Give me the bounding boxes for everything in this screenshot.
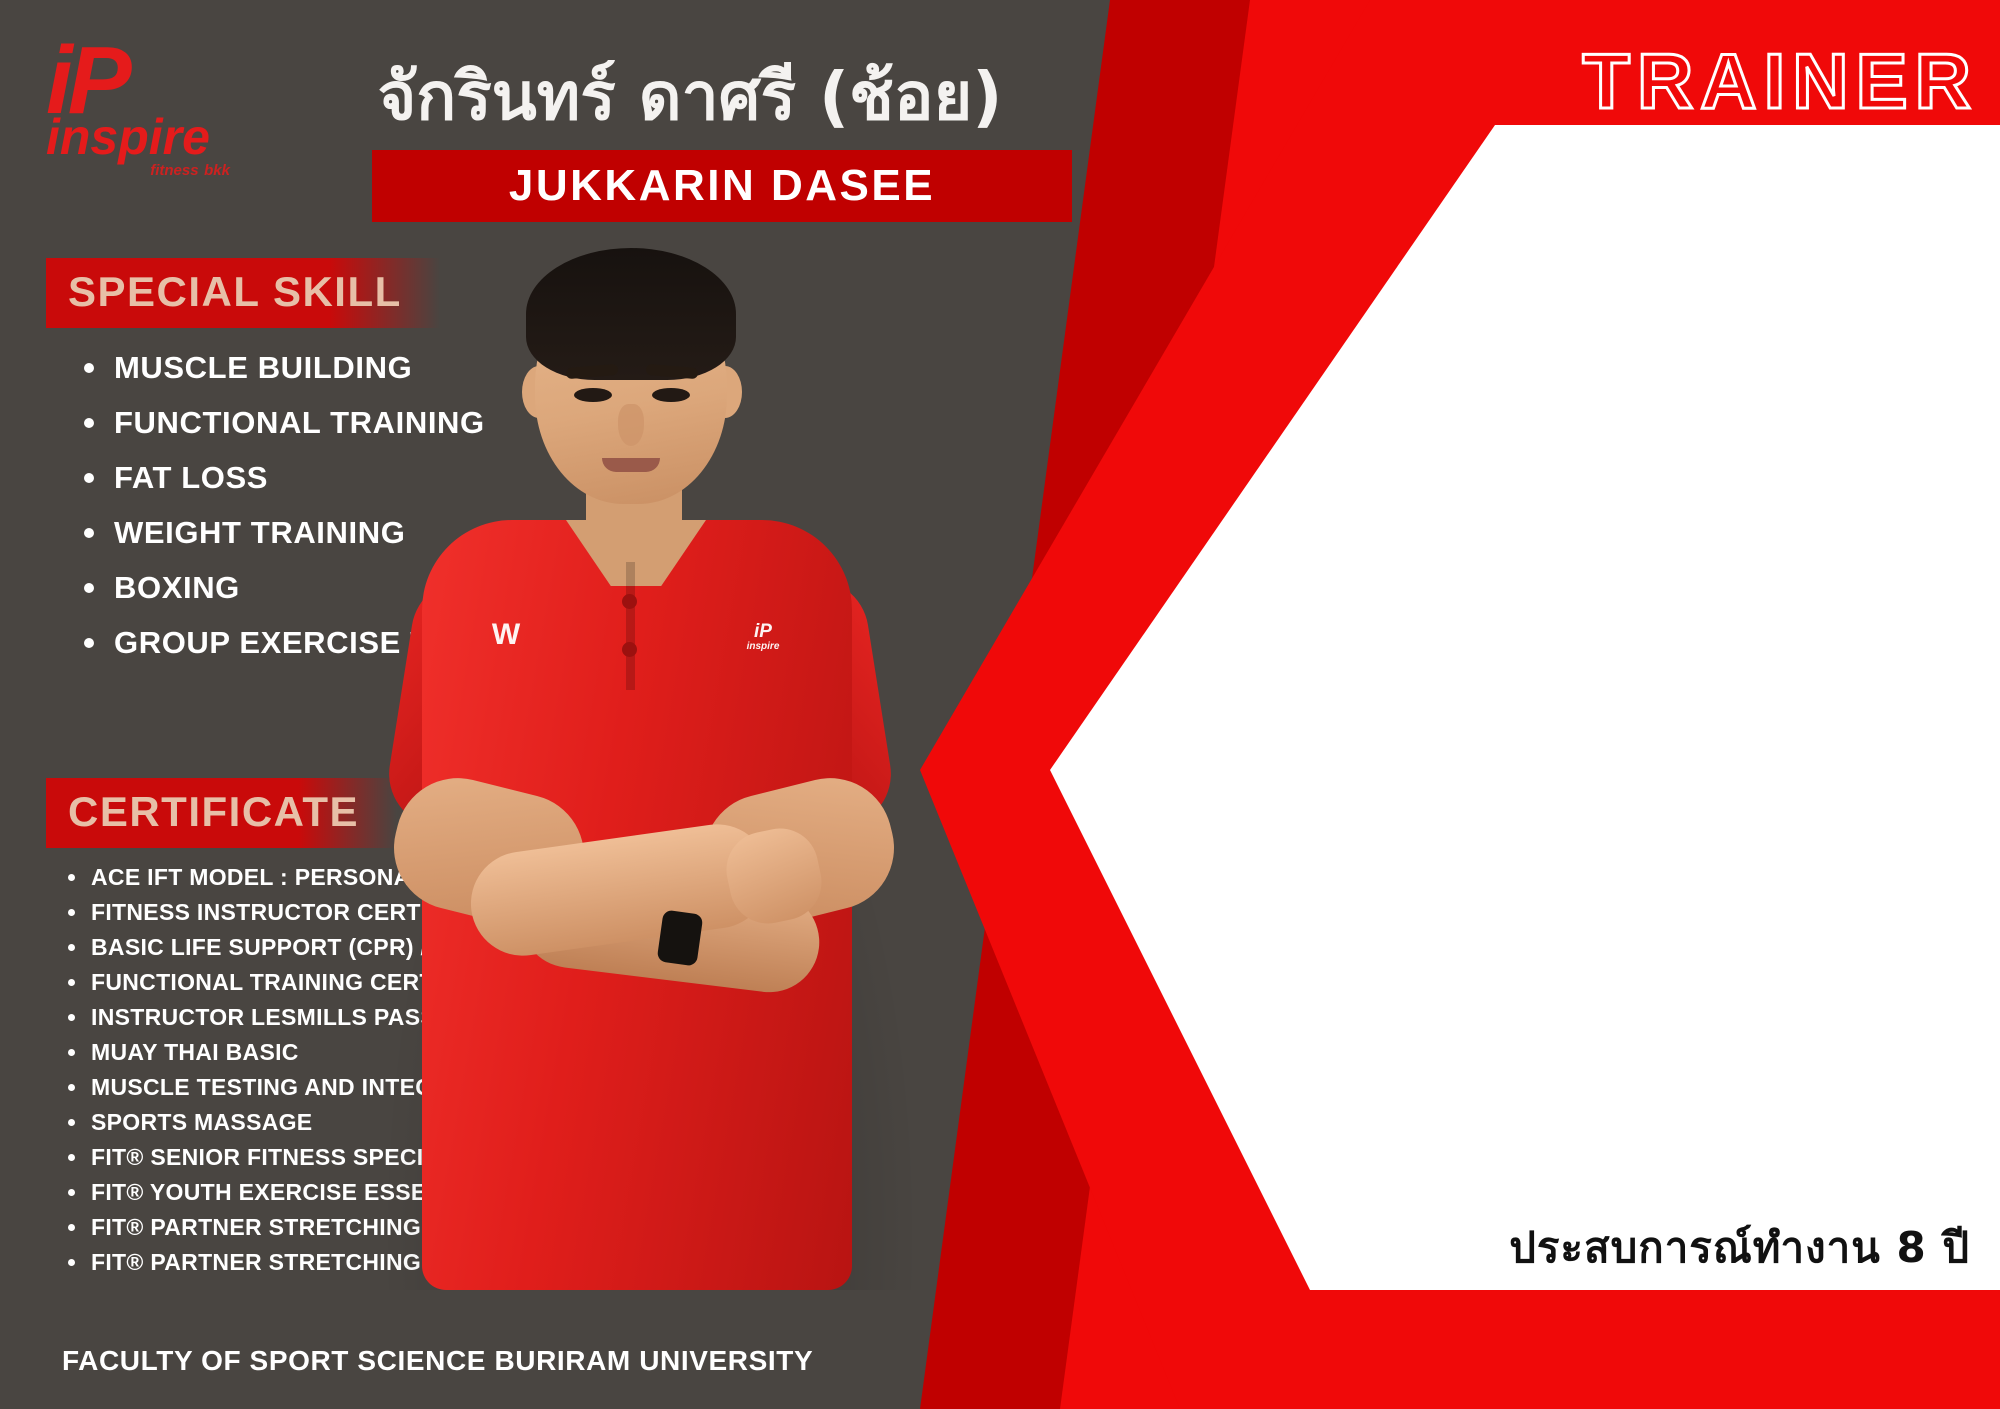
hair (526, 248, 736, 380)
chest-logo-left: W (478, 620, 534, 660)
nose (618, 404, 644, 446)
chest-logo-mark: iP (754, 621, 772, 642)
experience-text: ประสบการณ์ทำงาน 8 ปี (1509, 1215, 1970, 1281)
eye-left (574, 388, 612, 402)
shirt-button-top (622, 594, 637, 609)
eye-right (652, 388, 690, 402)
wrist-watch (657, 909, 704, 966)
trainer-photo: iP inspire W (330, 190, 950, 1290)
shirt-button-bottom (622, 642, 637, 657)
right-graphic-panel (920, 0, 2000, 1409)
chest-logo-right: iP inspire (728, 622, 798, 674)
trainer-profile-poster: TRAINER iP inspire W ประสบการณ์ทำงาน (0, 0, 2000, 1409)
chest-logo-sub: inspire (728, 642, 798, 653)
shirt-placket (626, 562, 635, 690)
mouth (602, 458, 660, 472)
brand-logo: iP inspire fitness bkk (46, 42, 236, 202)
trainer-badge: TRAINER (1582, 42, 1978, 120)
logo-tagline-text: fitness (150, 162, 198, 179)
logo-wordmark: inspire (46, 115, 236, 160)
certificate-heading: CERTIFICATE (68, 788, 359, 835)
logo-tagline-suffix: bkk (204, 162, 230, 179)
trainer-name-thai: จักรินทร์ ดาศรี (ช้อย) (310, 58, 1070, 136)
faculty-text: FACULTY OF SPORT SCIENCE BURIRAM UNIVERS… (62, 1345, 813, 1377)
